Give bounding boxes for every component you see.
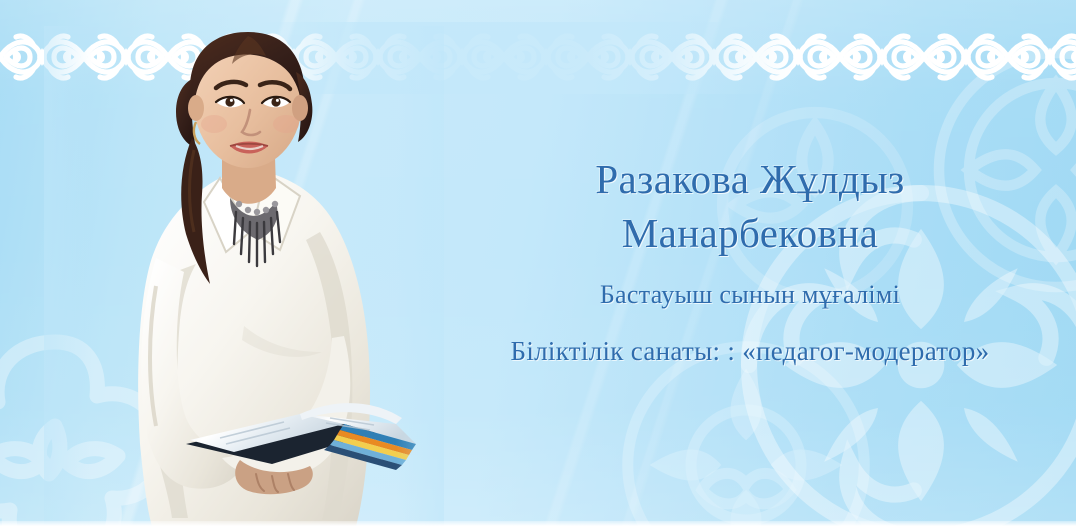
bottom-white-strip xyxy=(0,521,1076,526)
teacher-qualification-category: Біліктілік санаты: : «педагог-модератор» xyxy=(440,334,1060,369)
teacher-name-line-2: Манарбековна xyxy=(440,206,1060,260)
teacher-name-line-1: Разакова Жұлдыз xyxy=(440,152,1060,206)
teacher-position: Бастауыш сынын мұғалімі xyxy=(440,278,1060,312)
teacher-info-block: Разакова Жұлдыз Манарбековна Бастауыш сы… xyxy=(440,152,1060,369)
teacher-profile-banner: Разакова Жұлдыз Манарбековна Бастауыш сы… xyxy=(0,0,1076,526)
